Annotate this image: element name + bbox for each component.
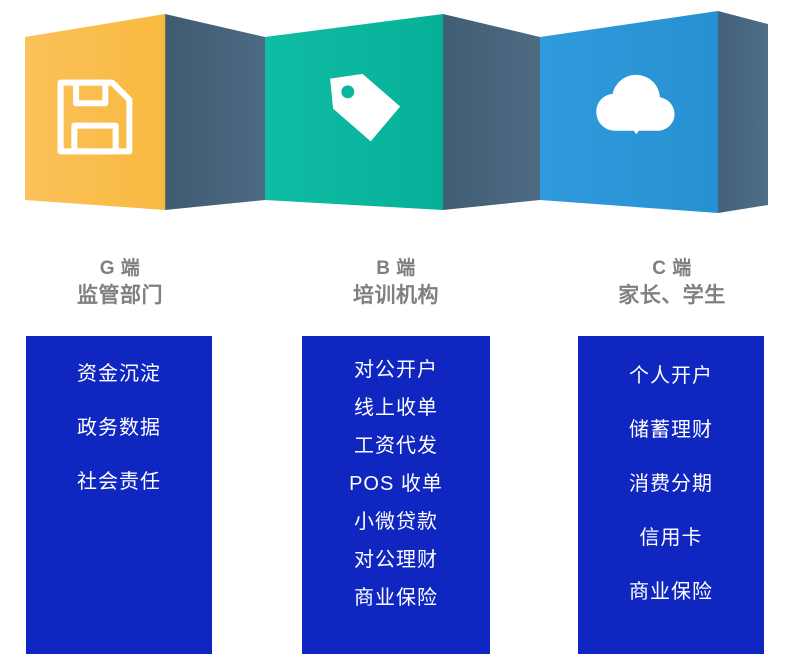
list-item: 线上收单 [354, 396, 438, 420]
service-list-b-end: 对公开户线上收单工资代发POS 收单小微贷款对公理财商业保险 [302, 336, 490, 654]
column-caption-b-end: B 端 培训机构 [296, 256, 496, 310]
list-item: 政务数据 [77, 416, 161, 440]
caption-line-2: 培训机构 [296, 282, 496, 310]
service-list-c-end: 个人开户储蓄理财消费分期信用卡商业保险 [578, 336, 764, 654]
list-item: 对公理财 [354, 548, 438, 572]
list-item: 信用卡 [640, 526, 703, 550]
list-item: 小微贷款 [354, 510, 438, 534]
caption-line-2: 监管部门 [20, 282, 220, 310]
list-item: 商业保险 [354, 586, 438, 610]
caption-line-1: B 端 [296, 256, 496, 282]
panel-face-g-end [25, 14, 165, 210]
list-item: 资金沉淀 [77, 362, 161, 386]
folded-panel-ribbon [0, 0, 792, 240]
column-caption-c-end: C 端 家长、学生 [572, 256, 772, 310]
column-caption-g-end: G 端 监管部门 [20, 256, 220, 310]
caption-line-2: 家长、学生 [572, 282, 772, 310]
list-item: 社会责任 [77, 470, 161, 494]
service-list-g-end: 资金沉淀政务数据社会责任 [26, 336, 212, 654]
caption-line-1: G 端 [20, 256, 220, 282]
list-item: 工资代发 [354, 434, 438, 458]
list-item: 储蓄理财 [629, 418, 713, 442]
infographic-canvas: G 端 监管部门 B 端 培训机构 C 端 家长、学生 资金沉淀政务数据社会责任… [0, 0, 792, 668]
list-item: 商业保险 [629, 580, 713, 604]
caption-line-1: C 端 [572, 256, 772, 282]
panel-side-c-end [718, 11, 768, 213]
panel-face-c-end [540, 11, 718, 213]
panel-face-b-end [265, 14, 443, 210]
list-item: 个人开户 [629, 364, 713, 388]
list-item: POS 收单 [349, 472, 443, 496]
panel-side-b-end [443, 14, 540, 210]
list-item: 对公开户 [354, 358, 438, 382]
panel-side-g-end [165, 14, 265, 210]
list-item: 消费分期 [629, 472, 713, 496]
